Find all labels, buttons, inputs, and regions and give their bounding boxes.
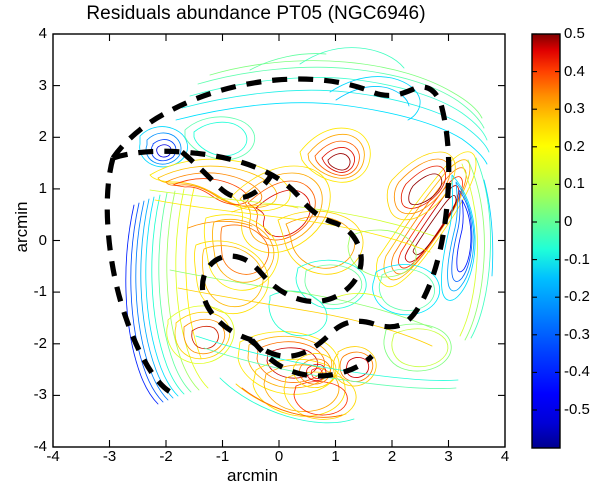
contour-maxima-bottom <box>220 332 356 423</box>
y-tick-label: 3 <box>13 77 47 94</box>
contour-loop-lower-left <box>167 306 234 364</box>
dashed-overlay-outer-left <box>107 158 172 393</box>
y-tick-label: -4 <box>13 438 47 455</box>
colorbar-tick-label: -0.2 <box>564 288 600 305</box>
colorbar-tick-label: 0.3 <box>564 100 600 117</box>
y-tick-label: -3 <box>13 386 47 403</box>
x-tickmarks-top <box>110 34 449 41</box>
contour-central-ridges <box>150 159 363 313</box>
colorbar-tick-label: 0.4 <box>564 63 600 80</box>
contour-maximum-right-ridge <box>376 152 476 287</box>
x-tickmarks <box>53 440 505 447</box>
y-tick-label: 4 <box>13 25 47 42</box>
x-tick-label: 4 <box>485 448 525 465</box>
contour-figure: Residuals abundance PT05 (NGC6946) <box>0 0 600 492</box>
colorbar-tick-label: -0.1 <box>564 251 600 268</box>
colorbar-tick-label: 0.2 <box>564 138 600 155</box>
contour-band-left-gradient <box>126 188 208 404</box>
x-axis-label: arcmin <box>0 466 505 486</box>
colorbar-tick-label: -0.4 <box>564 363 600 380</box>
y-tickmarks-right <box>498 86 505 396</box>
contour-maximum-upper-centre <box>300 128 370 182</box>
colorbar-tick-label: -0.3 <box>564 326 600 343</box>
y-tickmarks <box>53 34 60 447</box>
plot-canvas <box>0 0 600 492</box>
colorbar-tick-label: 0 <box>564 213 600 230</box>
dashed-overlay-inner <box>113 151 361 340</box>
dashed-overlay-group <box>107 79 449 393</box>
y-tick-label: 2 <box>13 128 47 145</box>
x-tick-label: 2 <box>372 448 412 465</box>
x-tick-label: 3 <box>429 448 469 465</box>
colorbar-tick-label: 0.5 <box>564 25 600 42</box>
colorbar[interactable] <box>532 34 560 448</box>
y-tick-label: -2 <box>13 335 47 352</box>
x-tick-label: 0 <box>259 448 299 465</box>
x-tick-label: -2 <box>146 448 186 465</box>
x-tick-label: -3 <box>90 448 130 465</box>
x-tick-label: -1 <box>203 448 243 465</box>
contour-minimum-upper-left <box>140 127 188 167</box>
colorbar-tick-label: -0.5 <box>564 401 600 418</box>
y-axis-label: arcmin <box>12 167 32 287</box>
x-tick-label: 1 <box>316 448 356 465</box>
contour-band-right <box>460 158 493 340</box>
colorbar-tick-label: 0.1 <box>564 175 600 192</box>
